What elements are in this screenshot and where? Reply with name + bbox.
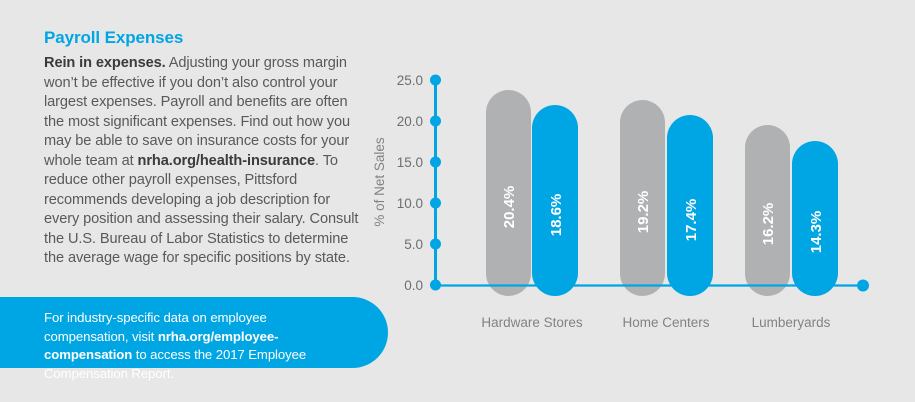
bar-value-label: 16.2%	[760, 203, 777, 246]
body-part-2: . To reduce other payroll expenses, Pitt…	[44, 153, 358, 267]
x-axis-end-dot	[857, 280, 869, 292]
bar-chart: % of Net Sales 25.0 20.0 15.0 10.0 5.0 0…	[365, 0, 915, 402]
y-tick-dot	[430, 157, 441, 168]
text-column: Payroll Expenses Rein in expenses. Adjus…	[44, 28, 362, 269]
bar-value-label: 20.4%	[501, 186, 518, 229]
y-tick-dot	[430, 198, 441, 209]
y-tick-label: 20.0	[397, 114, 423, 129]
bar-value-label: 17.4%	[683, 199, 700, 242]
y-axis-title: % of Net Sales	[372, 137, 387, 227]
page-title: Payroll Expenses	[44, 28, 362, 48]
y-tick-dot	[430, 280, 441, 291]
x-category-label: Lumberyards	[752, 315, 831, 330]
bar-value-label: 18.6%	[548, 194, 565, 237]
body-part-1: Adjusting your gross margin won’t be eff…	[44, 55, 350, 169]
health-insurance-link[interactable]: nrha.org/health-insurance	[138, 153, 316, 169]
infographic-panel: Payroll Expenses Rein in expenses. Adjus…	[0, 0, 915, 402]
bar-value-label: 14.3%	[808, 211, 825, 254]
y-tick-label: 0.0	[404, 278, 423, 293]
y-tick-dot	[430, 75, 441, 86]
body-lead: Rein in expenses.	[44, 55, 166, 71]
bar-value-label: 19.2%	[635, 191, 652, 234]
y-tick-dot	[430, 239, 441, 250]
y-tick-dot	[430, 116, 441, 127]
callout-banner: For industry-specific data on employee c…	[0, 297, 388, 368]
x-category-label: Home Centers	[622, 315, 709, 330]
callout-text: For industry-specific data on employee c…	[44, 309, 352, 383]
x-category-label: Hardware Stores	[481, 315, 583, 330]
y-tick-label: 10.0	[397, 196, 423, 211]
y-tick-label: 5.0	[404, 237, 423, 252]
body-copy: Rein in expenses. Adjusting your gross m…	[44, 54, 362, 269]
y-tick-label: 25.0	[397, 73, 423, 88]
y-tick-label: 15.0	[397, 155, 423, 170]
